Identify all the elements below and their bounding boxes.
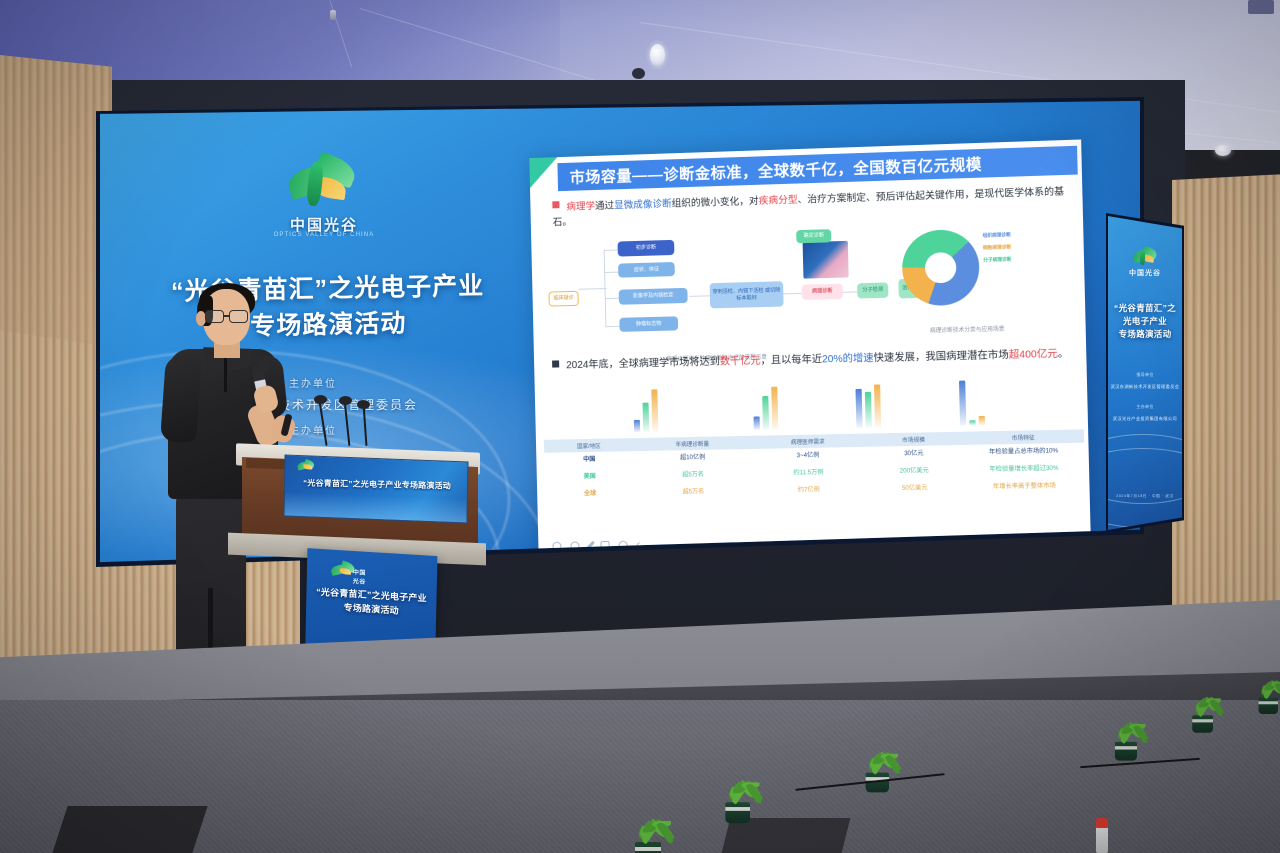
- mindmap-node-4: 临床疑诊: [548, 291, 578, 307]
- bar-group: [959, 376, 985, 426]
- vdisp-title-line2: 专场路演活动: [1110, 328, 1180, 341]
- plant-pot-band: [1192, 719, 1213, 722]
- vdisp-org-label-2: 主办单位: [1110, 404, 1180, 410]
- rollup-title: “光谷青苗汇”之光电子产业 专场路演活动: [310, 584, 433, 620]
- water-bottle-cap: [1096, 818, 1108, 828]
- bar-group: [855, 378, 881, 427]
- pathology-donut-chart: 组织病理诊断 细胞病理诊断 分子病理诊断 病理诊断技术分类与应用场景: [897, 221, 1025, 345]
- optics-valley-logo-icon: [1130, 246, 1160, 270]
- mindmap-node-6: 病理诊断: [802, 284, 843, 300]
- slide-corner-accent-icon: [529, 157, 558, 188]
- donut-caption: 病理诊断技术分类与应用场景: [910, 324, 1025, 335]
- speaker-shirt-placket: [224, 358, 227, 392]
- table-cell: 超5万名: [634, 471, 752, 480]
- table-cell: 超10亿例: [634, 454, 752, 463]
- vdisp-date: 2024年7月18日 · 中国 · 武汉: [1110, 494, 1180, 499]
- mindmap-node-5: 穿刺活检、内镜下活检 或切除标本取材: [710, 281, 784, 308]
- vdisp-title-line1: “光谷青苗汇”之光电子产业: [1110, 302, 1180, 328]
- table-mic-head-icon: [357, 400, 370, 409]
- bar-中国: [855, 389, 862, 428]
- microscope-photo: [803, 241, 849, 279]
- donut-legend-label-1: 细胞病理诊断: [983, 244, 1011, 250]
- ceiling-speaker: [632, 68, 645, 79]
- table-column-header: 年病理诊断量: [634, 438, 752, 448]
- plant-pot: [1259, 698, 1279, 715]
- bar-美国: [865, 392, 872, 427]
- floor-mat: [722, 818, 851, 853]
- bullet1-part-0: 病理学: [566, 201, 595, 213]
- table-column-header: 市场规模: [864, 434, 962, 444]
- table-column-header: 国家/地区: [544, 441, 634, 451]
- podium-sign-panel: “光谷青苗汇”之光电子产业专场路演活动: [283, 454, 468, 523]
- bar-全球: [874, 384, 881, 427]
- ceiling-vent: [1248, 0, 1274, 14]
- bar-全球: [771, 386, 778, 429]
- mindmap-node-1: 症状、体征: [618, 262, 675, 278]
- mindmap-node-8: 分子检测: [857, 282, 888, 298]
- rollup-logo-text: 中国光谷: [353, 567, 369, 586]
- ceiling-light: [650, 44, 665, 66]
- optics-valley-logo-icon: 中国光谷: [327, 561, 369, 579]
- vdisp-org-name-2: 武汉光谷产业投资集团有限公司: [1110, 416, 1180, 423]
- table-column-header: 病理医师需求: [751, 436, 865, 446]
- plant-pot: [725, 802, 750, 823]
- table-mic-head-icon: [314, 395, 327, 404]
- mindmap-node-7: 确定诊断: [796, 229, 831, 243]
- pathology-workflow-mindmap: 初步诊断 症状、体征 影像学及内镜检查 肿瘤标志物 临床疑诊 穿刺活检、内镜下活…: [547, 224, 885, 354]
- bar-美国: [762, 396, 769, 429]
- bar-全球: [651, 389, 658, 432]
- table-cell: 约11.5万例: [752, 469, 866, 478]
- table-cell-region: 全球: [545, 490, 635, 499]
- mindmap-node-2: 影像学及内镜检查: [619, 288, 688, 305]
- vdisp-org-name-1: 武汉东湖新技术开发区管理委员会: [1110, 384, 1180, 391]
- donut-legend-label-2: 分子病理诊断: [983, 256, 1011, 262]
- table-column-header: 市场特征: [963, 432, 1085, 443]
- table-cell: 年检验量占总市场的10%: [963, 448, 1085, 458]
- bullet2-part-4: 快速发展，我国病理潜在市场: [873, 350, 1008, 364]
- bullet1-part-3: 组织的微小变化，对: [672, 196, 759, 210]
- vdisp-title: “光谷青苗汇”之光电子产业 专场路演活动: [1110, 302, 1180, 342]
- bar-中国: [753, 416, 759, 430]
- bullet1-part-1: 通过: [595, 200, 614, 212]
- floor-mat: [52, 806, 207, 853]
- plant-pot-band: [635, 847, 661, 851]
- donut-legend: 组织病理诊断 细胞病理诊断 分子病理诊断: [983, 232, 1026, 269]
- bullet2-part-0: 2024年底，全球病理学市场将达到: [566, 357, 720, 372]
- bar-全球: [979, 416, 985, 425]
- led-event-title: “光谷青苗汇”之光电子产业 专场路演活动: [127, 268, 528, 347]
- vdisp-org-label-1: 指导单位: [1110, 372, 1180, 378]
- table-cell-region: 中国: [544, 456, 634, 465]
- table-cell: 超5万名: [635, 488, 753, 497]
- eyeglasses-icon: [205, 310, 224, 323]
- vdisp-logo-text: 中国光谷: [1116, 268, 1174, 278]
- optics-valley-logo-icon: [295, 460, 329, 473]
- dark-square-bullet-icon: [552, 360, 559, 367]
- presentation-slide[interactable]: 市场容量——诊断金标准，全球数千亿，全国数百亿元规模 病理学通过显微成像诊断组织…: [529, 139, 1091, 558]
- plant-pot-band: [725, 807, 750, 811]
- plant-pot-band: [1259, 701, 1279, 704]
- donut-legend-label-0: 组织病理诊断: [983, 232, 1011, 238]
- plant-pot-band: [1115, 746, 1137, 749]
- bar-中国: [959, 380, 966, 425]
- speaker-sleeve-left: [160, 355, 202, 443]
- table-cell: 约7亿例: [752, 486, 866, 495]
- slide-header-title: 市场容量——诊断金标准，全球数千亿，全国数百亿元规模: [570, 153, 983, 188]
- vertical-display-screen[interactable]: 中国光谷 “光谷青苗汇”之光电子产业 专场路演活动 指导单位 武汉东湖新技术开发…: [1108, 216, 1182, 530]
- water-bottle: [1096, 826, 1108, 853]
- table-cell: 3~4亿例: [751, 452, 865, 461]
- optics-valley-logo-icon: [278, 152, 370, 218]
- bullet2-part-3: 20%的增速: [822, 353, 874, 365]
- conference-room-scene: 中国光谷 OPTICS VALLEY OF CHINA “光谷青苗汇”之光电子产…: [0, 0, 1280, 853]
- ceiling-sprinkler: [330, 10, 336, 20]
- mindmap-node-3: 肿瘤标志物: [619, 316, 678, 332]
- table-cell: 200亿美元: [865, 467, 963, 476]
- bullet2-part-2: ，且以每年近: [760, 354, 822, 367]
- vdisp-wave-decoration: [1108, 448, 1182, 528]
- plant-pot: [1115, 742, 1137, 761]
- bar-中国: [634, 420, 640, 432]
- table-cell: 年增长率高于整体市场: [964, 483, 1086, 492]
- podium-sign-text: “光谷青苗汇”之光电子产业专场路演活动: [291, 477, 463, 492]
- bullet1-part-2: 显微成像诊断: [614, 199, 672, 212]
- plant-pot: [1192, 715, 1213, 733]
- bar-group: [753, 381, 779, 430]
- bar-美国: [969, 420, 975, 425]
- table-mic-head-icon: [339, 396, 352, 405]
- bar-美国: [643, 403, 650, 432]
- red-square-bullet-icon: [552, 201, 559, 208]
- table-cell: 50亿美元: [866, 485, 964, 494]
- bullet2-part-1: 数千亿元: [720, 356, 761, 368]
- bullet1-part-4: 疾病分型: [759, 195, 798, 207]
- bullet2-part-5: 超400亿元: [1009, 349, 1058, 361]
- bullet2-part-6: 。: [1058, 348, 1069, 360]
- eyeglasses-icon: [229, 310, 248, 323]
- eyeglasses-bridge: [224, 315, 230, 317]
- table-cell: 30亿元: [865, 450, 963, 459]
- market-comparison-table: 国家/地区年病理诊断量病理医师需求市场规模市场特征 中国超10亿例3~4亿例30…: [544, 429, 1086, 504]
- bar-group: [633, 383, 658, 432]
- mindmap-node-0: 初步诊断: [618, 240, 675, 257]
- logo-text-en: OPTICS VALLEY OF CHINA: [260, 232, 388, 238]
- ceiling-light: [1215, 145, 1231, 156]
- table-cell-region: 美国: [545, 473, 635, 482]
- table-cell: 年检验量增长率超过30%: [963, 465, 1085, 474]
